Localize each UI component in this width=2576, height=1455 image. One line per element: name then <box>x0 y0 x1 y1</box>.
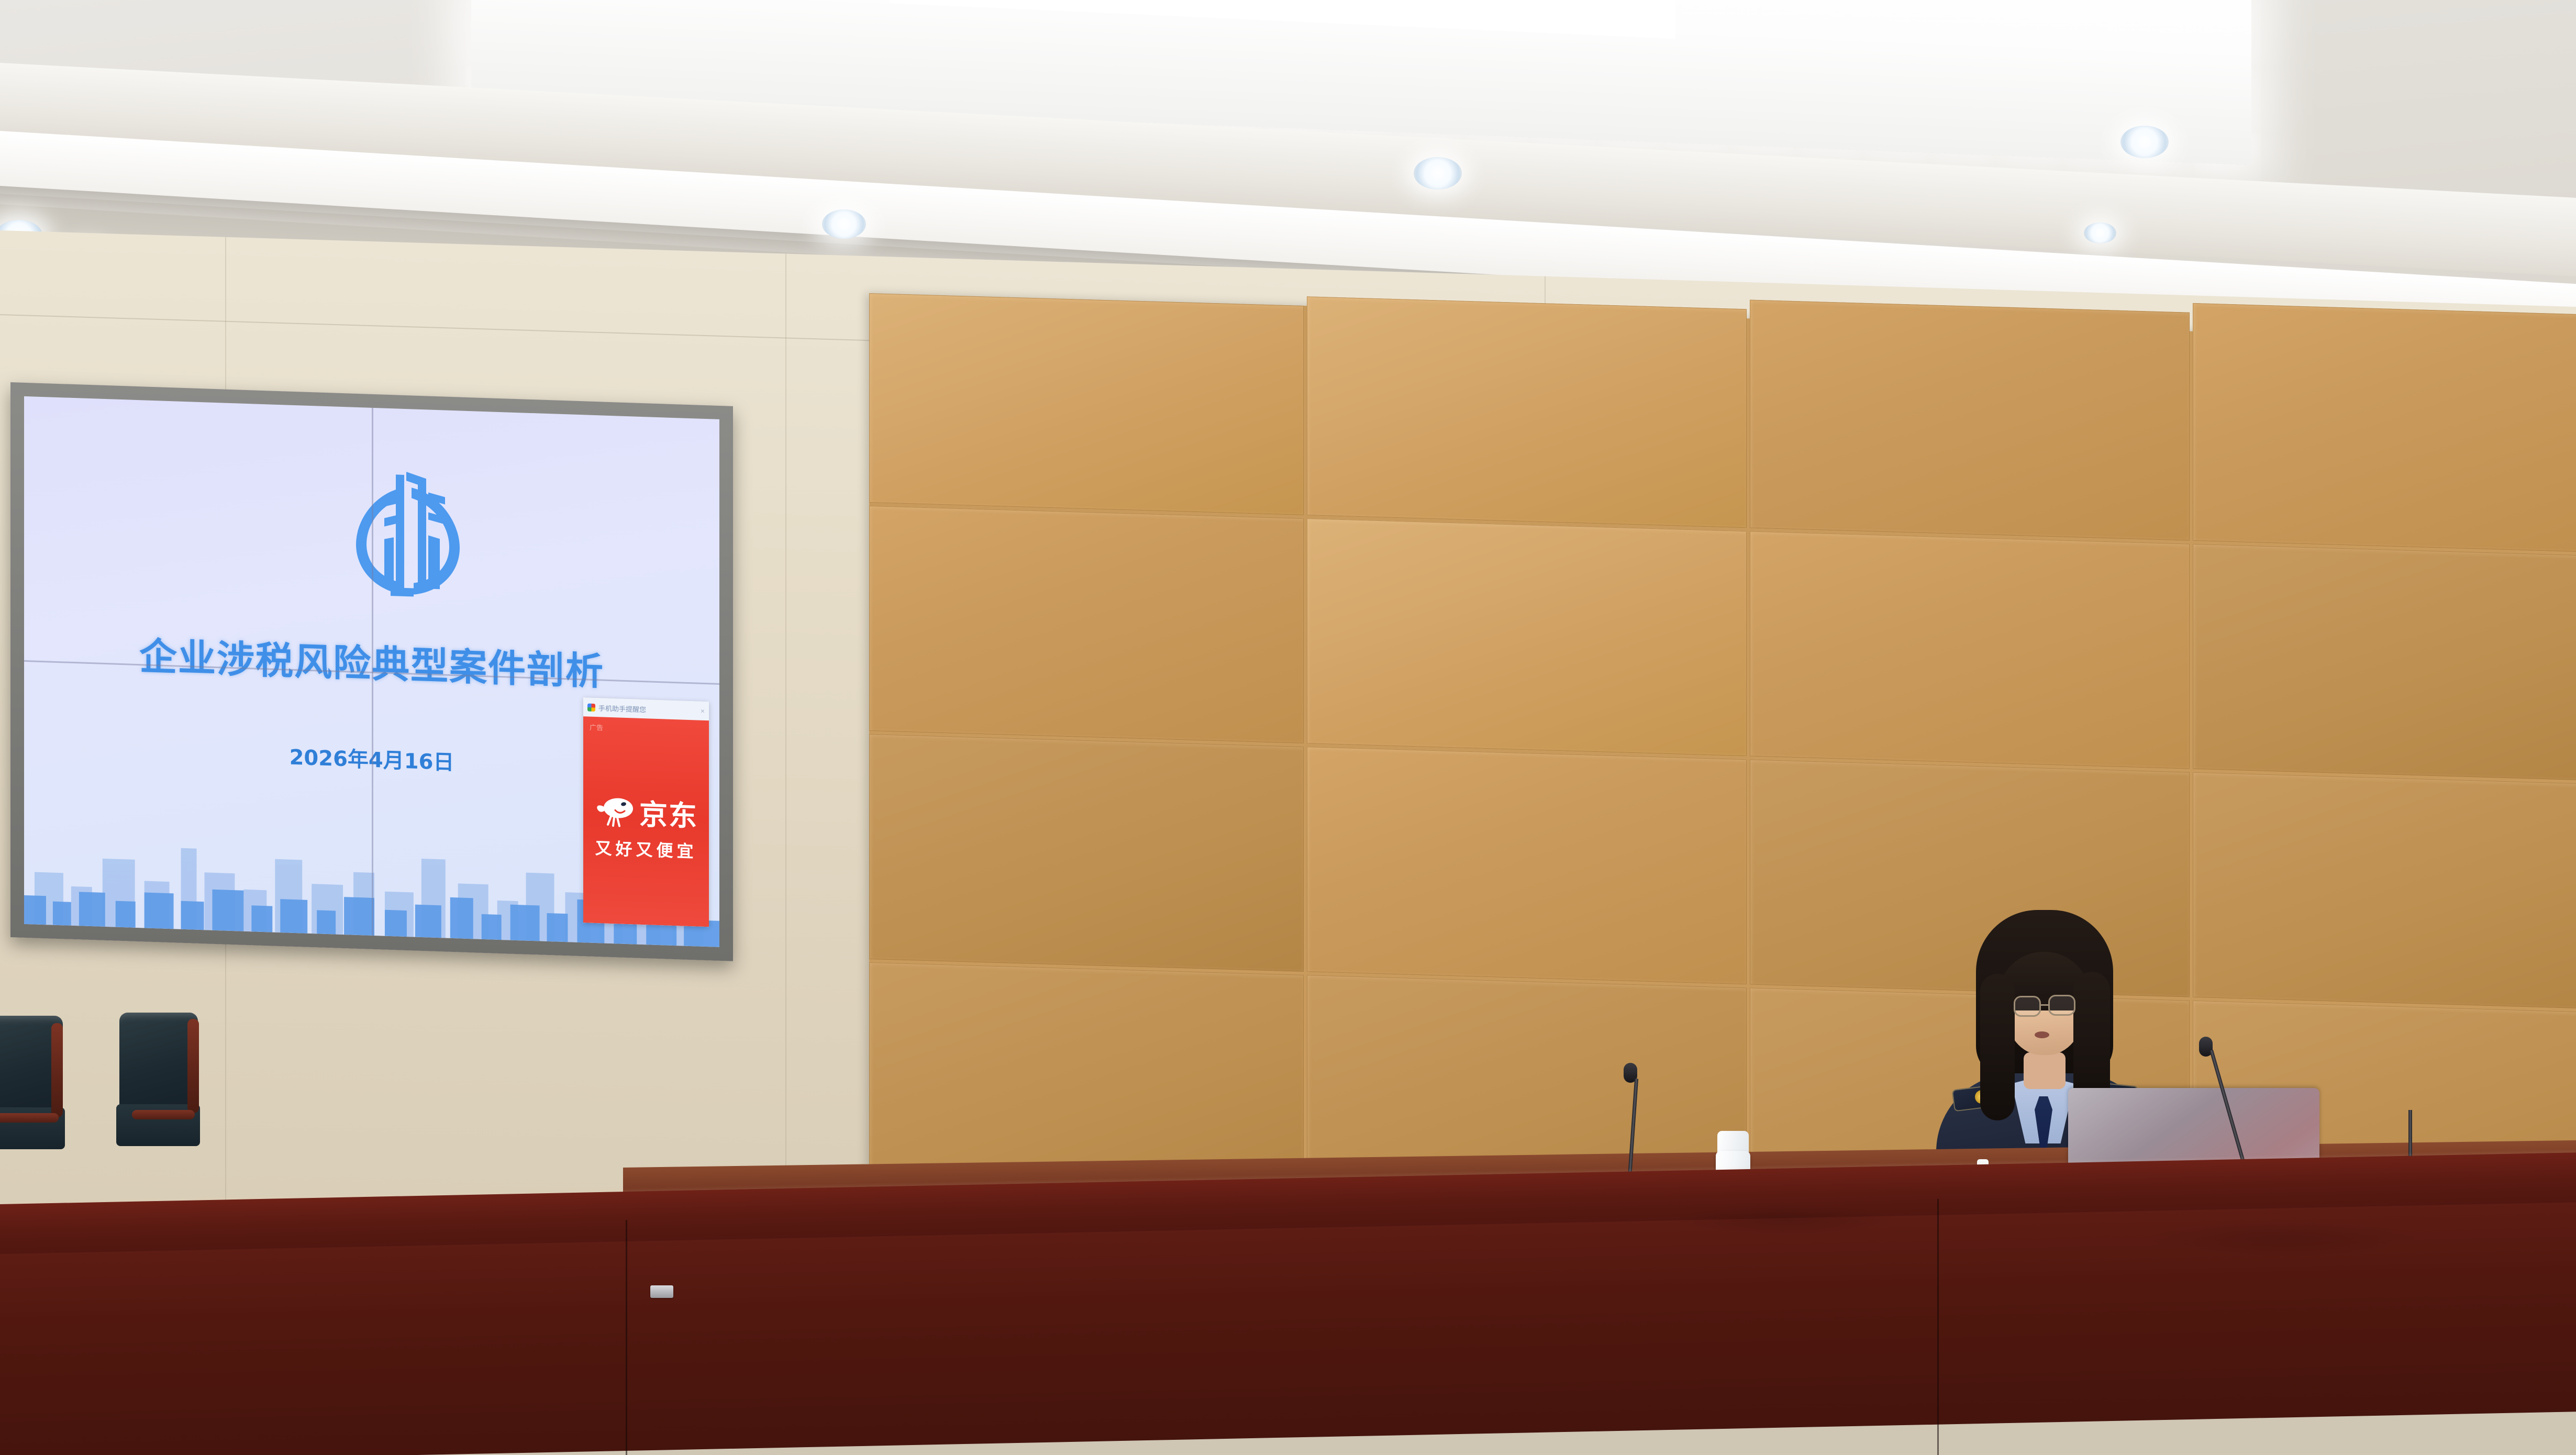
jd-brand-row: 京东 <box>594 789 698 834</box>
downlight-icon <box>2120 126 2169 158</box>
wall-panel <box>1750 531 2190 769</box>
wall-panel <box>1750 759 2190 997</box>
eyeglasses-right-lens <box>2048 995 2075 1016</box>
wall-panel <box>1307 296 1747 528</box>
chair-armrest <box>0 1113 59 1123</box>
desk-shadow <box>1675 1204 1895 1236</box>
jd-dog-mascot-icon <box>594 794 635 828</box>
wall-panel <box>2193 544 2576 780</box>
jd-brand-name: 京东 <box>639 791 698 834</box>
desk-shadow <box>2147 1220 2419 1257</box>
wall-panel <box>869 293 1304 515</box>
jd-ad-popup[interactable]: 手机助手提醒您 × 广告 京东 又 <box>583 697 709 927</box>
conference-room-scene: 企业涉税风险典型案件剖析 2026年4月16日 手机助手提醒您 × 广告 <box>0 0 2576 1455</box>
chair-arm <box>51 1023 63 1117</box>
wall-panel <box>869 734 1304 972</box>
downlight-icon <box>2084 223 2116 243</box>
desk-panel-seam <box>1937 1199 1939 1455</box>
ad-popup-body[interactable]: 广告 京东 又好又便宜 <box>583 716 709 927</box>
wall-panel <box>1307 518 1747 756</box>
ad-disclosure-label: 广告 <box>590 722 603 732</box>
chair-arm <box>187 1019 199 1113</box>
wall-panel <box>2193 303 2576 552</box>
marble-seam <box>785 254 786 1275</box>
mouth <box>2035 1031 2049 1038</box>
close-icon[interactable]: × <box>701 707 705 715</box>
desk-panel-seam <box>626 1220 627 1455</box>
chair-armrest <box>132 1110 195 1119</box>
eyeglasses-left-lens <box>2014 996 2041 1017</box>
desk-brand-plate <box>650 1285 673 1298</box>
chair-backrest <box>119 1013 198 1109</box>
china-tax-administration-emblem <box>348 464 468 599</box>
assistant-app-icon <box>587 703 595 711</box>
downlight-icon <box>822 209 866 239</box>
wall-panel <box>1307 747 1747 984</box>
wall-panel <box>2193 772 2576 1008</box>
hair-side-left <box>1980 974 2015 1120</box>
ad-popup-header-text: 手机助手提醒您 <box>598 703 646 714</box>
screen-panel-seam <box>372 408 373 936</box>
jd-slogan: 又好又便宜 <box>595 835 697 862</box>
lcd-video-wall[interactable]: 企业涉税风险典型案件剖析 2026年4月16日 手机助手提醒您 × 广告 <box>10 382 733 961</box>
eyeglasses-bridge <box>2041 1004 2049 1006</box>
wall-panel <box>1750 299 2190 540</box>
screen-display[interactable]: 企业涉税风险典型案件剖析 2026年4月16日 手机助手提醒您 × 广告 <box>24 396 719 947</box>
neck <box>2024 1052 2066 1089</box>
wall-panel <box>869 506 1304 743</box>
downlight-icon <box>1414 157 1462 190</box>
